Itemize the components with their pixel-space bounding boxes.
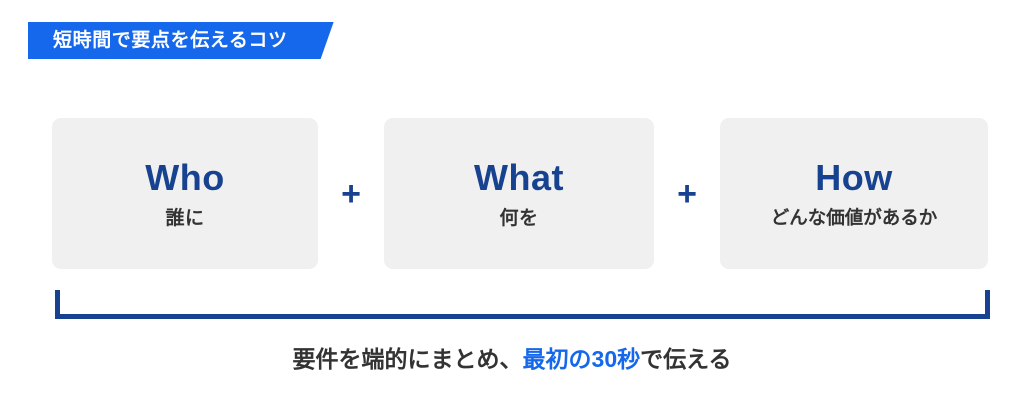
caption-highlight: 最初の30秒 [523, 346, 641, 372]
formula-cards-row: Who 誰に + What 何を + How どんな価値があるか [52, 118, 988, 269]
card-who-title: Who [145, 160, 224, 196]
card-how: How どんな価値があるか [720, 118, 988, 269]
slide-canvas: 短時間で要点を伝えるコツ Who 誰に + What 何を + How どんな価… [0, 0, 1024, 416]
card-what-title: What [474, 160, 564, 196]
caption-suffix: で伝える [640, 346, 731, 372]
card-what-subtitle: 何を [499, 209, 538, 228]
card-who-subtitle: 誰に [165, 209, 204, 228]
card-how-title: How [815, 160, 893, 196]
section-ribbon-banner: 短時間で要点を伝えるコツ [28, 22, 334, 59]
caption-prefix: 要件を端的にまとめ、 [293, 346, 523, 372]
plus-operator-icon-2: + [654, 118, 720, 269]
ribbon-title: 短時間で要点を伝えるコツ [53, 31, 288, 50]
summary-caption: 要件を端的にまとめ、最初の30秒で伝える [0, 345, 1024, 375]
card-what: What 何を [384, 118, 654, 269]
plus-operator-icon-1: + [318, 118, 384, 269]
card-how-subtitle: どんな価値があるか [771, 209, 938, 228]
summary-bracket [55, 290, 990, 319]
card-who: Who 誰に [52, 118, 318, 269]
